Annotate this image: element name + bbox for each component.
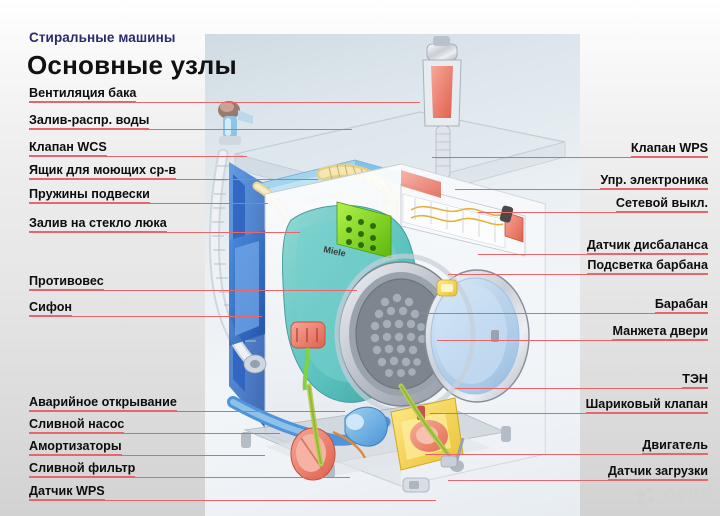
callout-leader-right-0 xyxy=(432,157,708,158)
callout-leader-right-4 xyxy=(448,274,708,275)
callout-label-left-9: Сливной насос xyxy=(29,417,124,433)
callout-label-left-2: Клапан WCS xyxy=(29,140,107,156)
callout-leader-left-5 xyxy=(29,232,300,233)
washing-machine-illustration: Miele xyxy=(205,34,580,516)
callout-leader-left-8 xyxy=(29,411,345,412)
callout-leader-right-10 xyxy=(448,480,708,481)
callout-label-right-7: ТЭН xyxy=(682,372,708,388)
callout-leader-left-12 xyxy=(29,500,436,501)
drum-light xyxy=(437,280,457,296)
callout-label-left-10: Амортизаторы xyxy=(29,439,122,455)
callout-leader-right-3 xyxy=(478,254,708,255)
callout-label-right-3: Датчик дисбаланса xyxy=(587,238,708,254)
wcs-valve xyxy=(218,101,253,145)
siphon xyxy=(244,355,266,373)
callout-label-left-5: Залив на стекло люка xyxy=(29,216,167,232)
callout-leader-left-1 xyxy=(29,129,352,130)
callout-label-left-1: Залив-распр. воды xyxy=(29,113,149,129)
avito-dots-icon xyxy=(636,487,658,505)
callout-leader-right-1 xyxy=(455,189,708,190)
callout-leader-left-11 xyxy=(29,477,350,478)
callout-leader-left-0 xyxy=(29,102,420,103)
diagram-page: Miele xyxy=(0,0,720,516)
callout-leader-right-9 xyxy=(425,454,708,455)
page-title: Основные узлы xyxy=(27,50,237,81)
callout-label-left-7: Сифон xyxy=(29,300,72,316)
callout-label-left-4: Пружины подвески xyxy=(29,187,150,203)
callout-label-right-2: Сетевой выкл. xyxy=(616,196,708,212)
callout-label-right-9: Двигатель xyxy=(642,438,708,454)
drain-filter xyxy=(291,428,335,480)
callout-label-left-0: Вентиляция бака xyxy=(29,86,136,102)
callout-label-right-6: Манжета двери xyxy=(612,324,708,340)
callout-label-left-3: Ящик для моющих ср-в xyxy=(29,163,176,179)
callout-leader-left-4 xyxy=(29,203,268,204)
avito-wordmark: Avito xyxy=(662,484,712,508)
wps-sensor xyxy=(403,478,429,492)
callout-leader-right-8 xyxy=(430,413,708,414)
callout-label-right-4: Подсветка барбана xyxy=(587,258,708,274)
load-sensor xyxy=(441,456,457,467)
callout-leader-right-5 xyxy=(418,313,708,314)
callout-label-left-6: Противовес xyxy=(29,274,104,290)
callout-label-right-5: Барабан xyxy=(655,297,708,313)
callout-label-right-10: Датчик загрузки xyxy=(608,464,708,480)
callout-label-right-1: Упр. электроника xyxy=(600,173,708,189)
callout-leader-left-2 xyxy=(29,156,247,157)
callout-label-right-0: Клапан WPS xyxy=(631,141,708,157)
callout-leader-right-7 xyxy=(455,388,708,389)
callout-label-left-11: Сливной фильтр xyxy=(29,461,135,477)
callout-leader-left-6 xyxy=(29,290,357,291)
callout-label-right-8: Шариковый клапан xyxy=(586,397,708,413)
callout-leader-left-10 xyxy=(29,455,265,456)
callout-leader-left-9 xyxy=(29,433,280,434)
callout-leader-right-6 xyxy=(437,340,708,341)
callout-leader-right-2 xyxy=(478,212,708,213)
counterweight xyxy=(229,230,265,346)
callout-label-left-12: Датчик WPS xyxy=(29,484,105,500)
avito-watermark: Avito xyxy=(636,484,712,508)
page-subtitle: Стиральные машины xyxy=(29,30,175,45)
callout-leader-left-3 xyxy=(29,179,318,180)
callout-label-left-8: Аварийное открывание xyxy=(29,395,177,411)
drain-pump xyxy=(345,407,387,446)
callout-leader-left-7 xyxy=(29,316,262,317)
